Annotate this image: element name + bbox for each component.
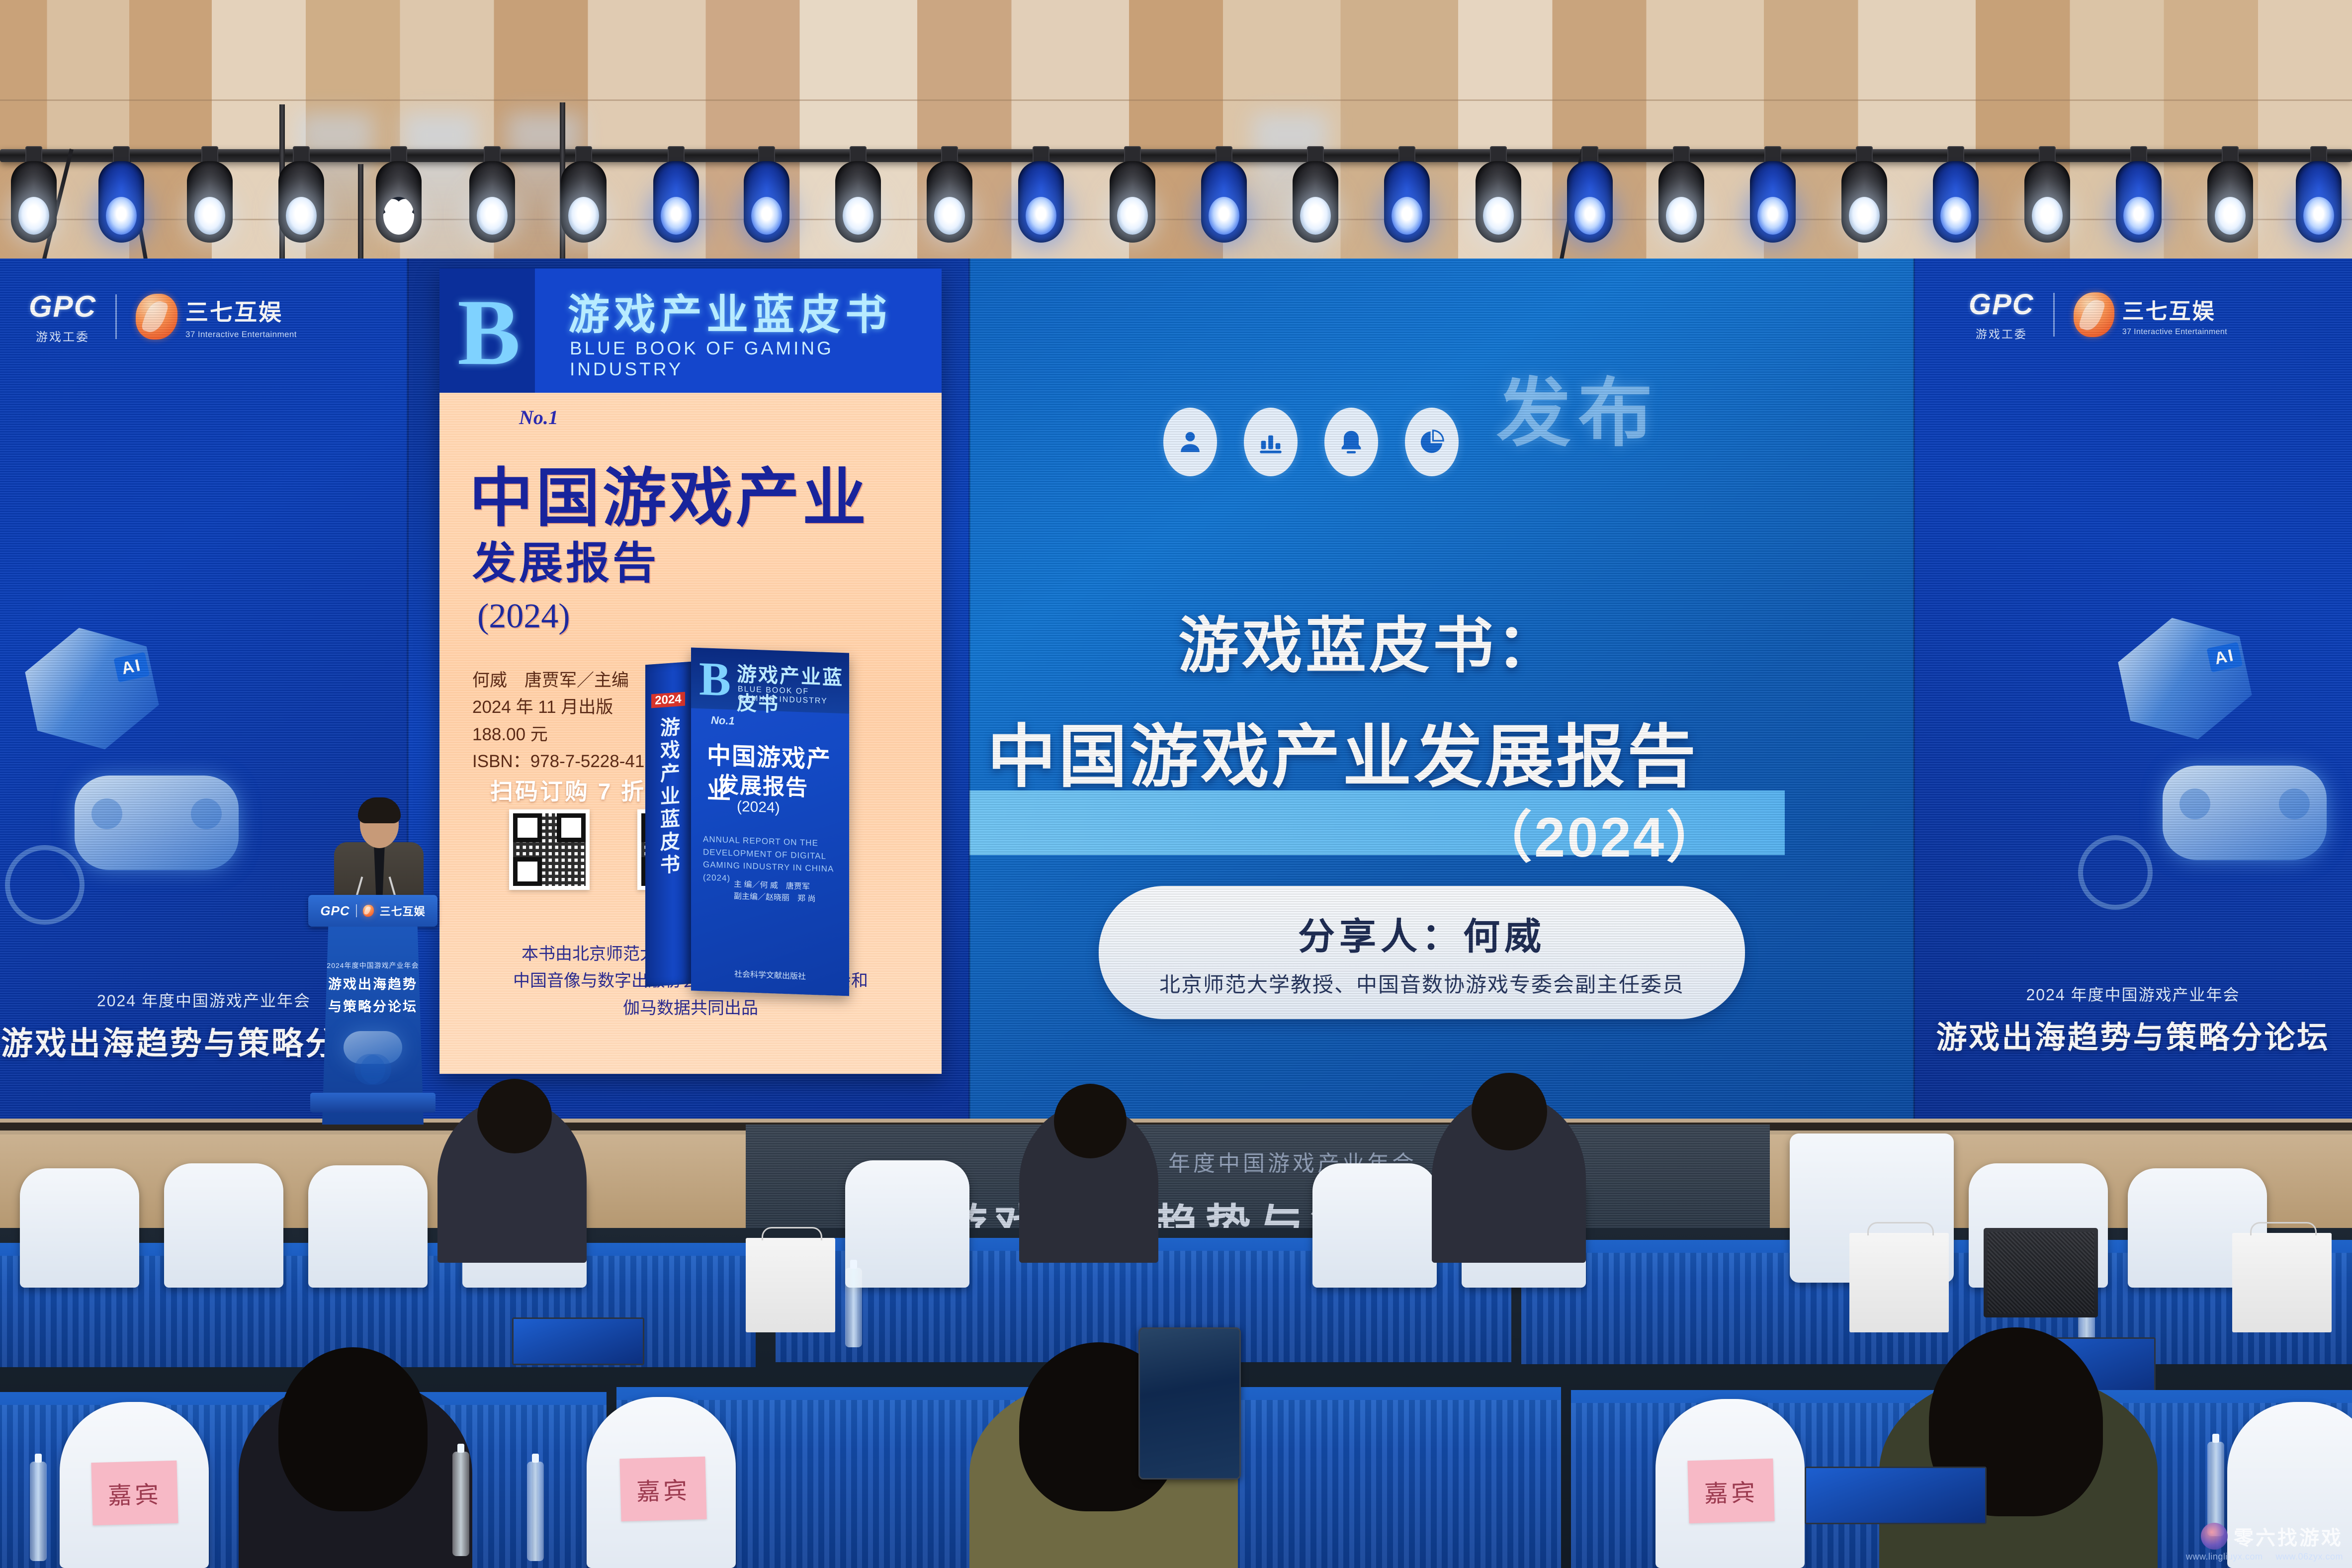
spotlight-fixture (1933, 158, 1979, 243)
speaker-role: 北京师范大学教授、中国音数协游戏专委会副主任委员 (1159, 968, 1684, 998)
gpc-logo: GPC 游戏工委 (29, 289, 96, 345)
icon-strip (1163, 408, 1459, 476)
gpc-logo: GPC 游戏工委 (1969, 288, 2034, 342)
book-editor-line2: 副主编／赵晓丽 郑 尚 (734, 890, 815, 905)
poster-title-sub: 发展报告 (472, 528, 659, 591)
spotlight-fixture (278, 158, 324, 243)
book-b-mark: B (699, 651, 731, 707)
spotlight-fixture (1201, 158, 1247, 243)
guest-chair (1312, 1163, 1437, 1288)
guest-placard: 嘉宾 (91, 1461, 178, 1525)
lighting-truss (0, 149, 2352, 162)
spotlight-fixture (2024, 158, 2070, 243)
water-bottle (845, 1268, 862, 1347)
spotlight-fixture (561, 158, 607, 243)
book-spine: 2024 游戏产业蓝皮书 (645, 662, 691, 987)
gpc-wordmark: GPC (29, 289, 96, 324)
ai-cube-label: AI (2206, 642, 2243, 672)
spotlight-fixture (1658, 158, 1704, 243)
guest-chair (20, 1168, 139, 1288)
spotlight-fixture (11, 158, 57, 243)
ai-cube-label: AI (113, 652, 150, 682)
book-spine-year-tag: 2024 (651, 692, 685, 708)
gamepad-graphic (75, 776, 239, 870)
spotlight-fixture (1567, 158, 1613, 243)
main-title-year: （2024） (1477, 792, 1724, 873)
water-bottle (30, 1462, 47, 1561)
gpc-wordmark: GPC (1969, 288, 2034, 321)
spotlight-fixture (835, 158, 881, 243)
qr-code-order[interactable] (509, 809, 590, 890)
conference-stage-photo: GPC 游戏工委 三七互娱 37 Interactive Entertainme… (0, 0, 2352, 1568)
watermark-site-name: 零六找游戏 (2234, 1522, 2343, 1551)
led-panel-main: 发布 游戏蓝皮书： 中国游戏产业发展报告 （2024） 分享人：何威 北京师范大… (969, 259, 1914, 1124)
podium-conf-title-1: 游戏出海趋势 (328, 973, 418, 993)
spotlight-fixture (2116, 158, 2162, 243)
poster-footer-line3: 伽马数据共同出品 (439, 995, 942, 1022)
table-tablet (1805, 1467, 1987, 1524)
guest-placard: 嘉宾 (619, 1457, 706, 1521)
spotlight-fixture (653, 158, 699, 243)
sq-flame-icon (2074, 292, 2114, 337)
podium-conf-title-2: 与策略分论坛 (328, 996, 418, 1015)
sponsor-logo-row-left: GPC 游戏工委 三七互娱 37 Interactive Entertainme… (29, 289, 297, 344)
guest-chair (164, 1163, 283, 1288)
watermark-url-2: www.06zyx.com (2275, 1552, 2343, 1562)
book-3d-mockup: 2024 游戏产业蓝皮书 B 游戏产业蓝皮书 BLUE BOOK OF GAMI… (645, 650, 849, 998)
spotlight-fixture (2296, 158, 2342, 243)
sq-english-name: 37 Interactive Entertainment (185, 330, 297, 340)
bell-icon (1324, 408, 1378, 476)
guest-placard: 嘉宾 (1687, 1459, 1774, 1523)
conference-year-right: 2024 年度中国游戏产业年会 (1914, 982, 2352, 1005)
smartphone-recording[interactable] (1138, 1327, 1241, 1480)
presenter-person (334, 800, 424, 905)
wall-seam (0, 99, 2352, 101)
sq-logo: 三七互娱 37 Interactive Entertainment (2074, 292, 2227, 337)
podium-gamepad-graphic (344, 1031, 402, 1064)
book-spine-title: 游戏产业蓝皮书 (654, 716, 683, 878)
spotlight-fixture (1841, 158, 1887, 243)
gamepad-graphic (2163, 766, 2327, 860)
book-publisher: 社会科学文献出版社 (691, 965, 849, 983)
bar-chart-icon (1244, 408, 1298, 476)
podium-sq-name: 三七互娱 (380, 903, 426, 919)
ring-graphic (5, 845, 85, 925)
water-bottle (452, 1452, 469, 1556)
poster-header-en: BLUE BOOK OF GAMING INDUSTRY (570, 338, 942, 380)
table-tablet (512, 1317, 644, 1365)
ring-graphic (2078, 835, 2153, 910)
gift-bag (1849, 1233, 1949, 1332)
conference-subtitle-right: 游戏出海趋势与策略分论坛 (1914, 1012, 2352, 1057)
book-cover-editors: 主 编／何 威 唐贾军 副主编／赵晓丽 郑 尚 (734, 878, 815, 905)
podium-base (310, 1093, 436, 1113)
sponsor-logo-row-right: GPC 游戏工委 三七互娱 37 Interactive Entertainme… (1969, 287, 2227, 342)
sq-flame-icon (136, 294, 177, 340)
book-cover-year: (2024) (737, 798, 780, 817)
podium: GPC 三七互娱 2024年度中国游戏产业年会 游戏出海趋势 与策略分论坛 (308, 895, 437, 1124)
conference-title-block-right: 2024 年度中国游戏产业年会 游戏出海趋势与策略分论坛 (1914, 982, 2352, 1057)
speaker-info-pill: 分享人：何威 北京师范大学教授、中国音数协游戏专委会副主任委员 (1099, 886, 1745, 1019)
audience-head (1472, 1073, 1547, 1150)
guest-chair (308, 1165, 428, 1288)
ai-cube-graphic: AI (18, 615, 166, 763)
truss-pole (358, 164, 363, 263)
poster-no1: No.1 (519, 406, 558, 429)
podium-top-logo-bar: GPC 三七互娱 (308, 895, 437, 927)
poster-title-main: 中国游戏产业 (469, 446, 869, 538)
book-cover-title2: 发展报告 (717, 767, 808, 801)
speaker-name: 分享人：何威 (1298, 907, 1546, 960)
spotlight-fixture (469, 158, 515, 243)
podium-sq-flame-icon (363, 905, 374, 917)
audience-head (477, 1079, 552, 1153)
user-icon (1163, 408, 1217, 476)
book-front-cover: B 游戏产业蓝皮书 BLUE BOOK OF GAMING INDUSTRY N… (691, 647, 849, 996)
spotlight-fixture (98, 158, 144, 243)
main-title-line1: 游戏蓝皮书： (1178, 597, 1560, 685)
podium-gpc-mark: GPC (320, 903, 349, 919)
watermark-url-1: www.lingliuyx.com (2186, 1552, 2263, 1562)
spotlight-fixture (1750, 158, 1796, 243)
spotlight-fixture (1018, 158, 1064, 243)
spotlight-fixture (744, 158, 789, 243)
spotlight-fixture (376, 158, 422, 243)
spotlight-fixture (2207, 158, 2253, 243)
book-cover-no1: No.1 (711, 714, 735, 728)
poster-year: (2024) (477, 597, 570, 636)
spotlight-fixture (187, 158, 233, 243)
sq-english-name: 37 Interactive Entertainment (2122, 328, 2227, 337)
sq-logo: 三七互娱 37 Interactive Entertainment (136, 294, 297, 340)
sq-chinese-name: 三七互娱 (185, 294, 297, 327)
audience-head (1054, 1084, 1127, 1158)
audience-hall: 嘉宾 嘉宾 嘉宾 (0, 1228, 2352, 1568)
gpc-subtitle: 游戏工委 (1976, 325, 2027, 342)
gpc-subtitle: 游戏工委 (36, 327, 89, 345)
podium-conf-year: 2024年度中国游戏产业年会 (327, 960, 419, 970)
spotlight-fixture (1476, 158, 1521, 243)
gift-bag (746, 1238, 835, 1332)
pa-speaker (1984, 1228, 2098, 1317)
poster-b-mark: B (457, 278, 521, 387)
pie-chart-icon (1405, 408, 1459, 476)
main-title-line2: 中国游戏产业发展报告 (987, 701, 1698, 800)
led-panel-right: GPC 游戏工委 三七互娱 37 Interactive Entertainme… (1914, 259, 2352, 1124)
watermark-logo-icon (2201, 1523, 2228, 1550)
spotlight-fixture (927, 158, 972, 243)
wall-seam (0, 219, 2352, 220)
audience-head-front (278, 1347, 428, 1511)
logo-divider (2053, 293, 2055, 337)
spotlight-fixture (1293, 158, 1338, 243)
spotlight-fixture (1384, 158, 1430, 243)
ai-cube-graphic: AI (2111, 605, 2259, 753)
logo-divider (115, 294, 117, 339)
poster-header: B 游戏产业蓝皮书 BLUE BOOK OF GAMING INDUSTRY (439, 268, 942, 393)
spotlight-fixture (1110, 158, 1155, 243)
sq-chinese-name: 三七互娱 (2122, 293, 2227, 325)
gift-bag (2232, 1233, 2332, 1332)
guest-chair (845, 1160, 969, 1288)
poster-header-cn: 游戏产业蓝皮书 (568, 281, 891, 342)
water-bottle (527, 1462, 544, 1561)
ceiling-wall (0, 0, 2352, 278)
watermark: 零六找游戏 www.lingliuyx.com www.06zyx.com (2186, 1522, 2343, 1562)
fabu-ghost-text: 发布 (1496, 353, 1659, 461)
